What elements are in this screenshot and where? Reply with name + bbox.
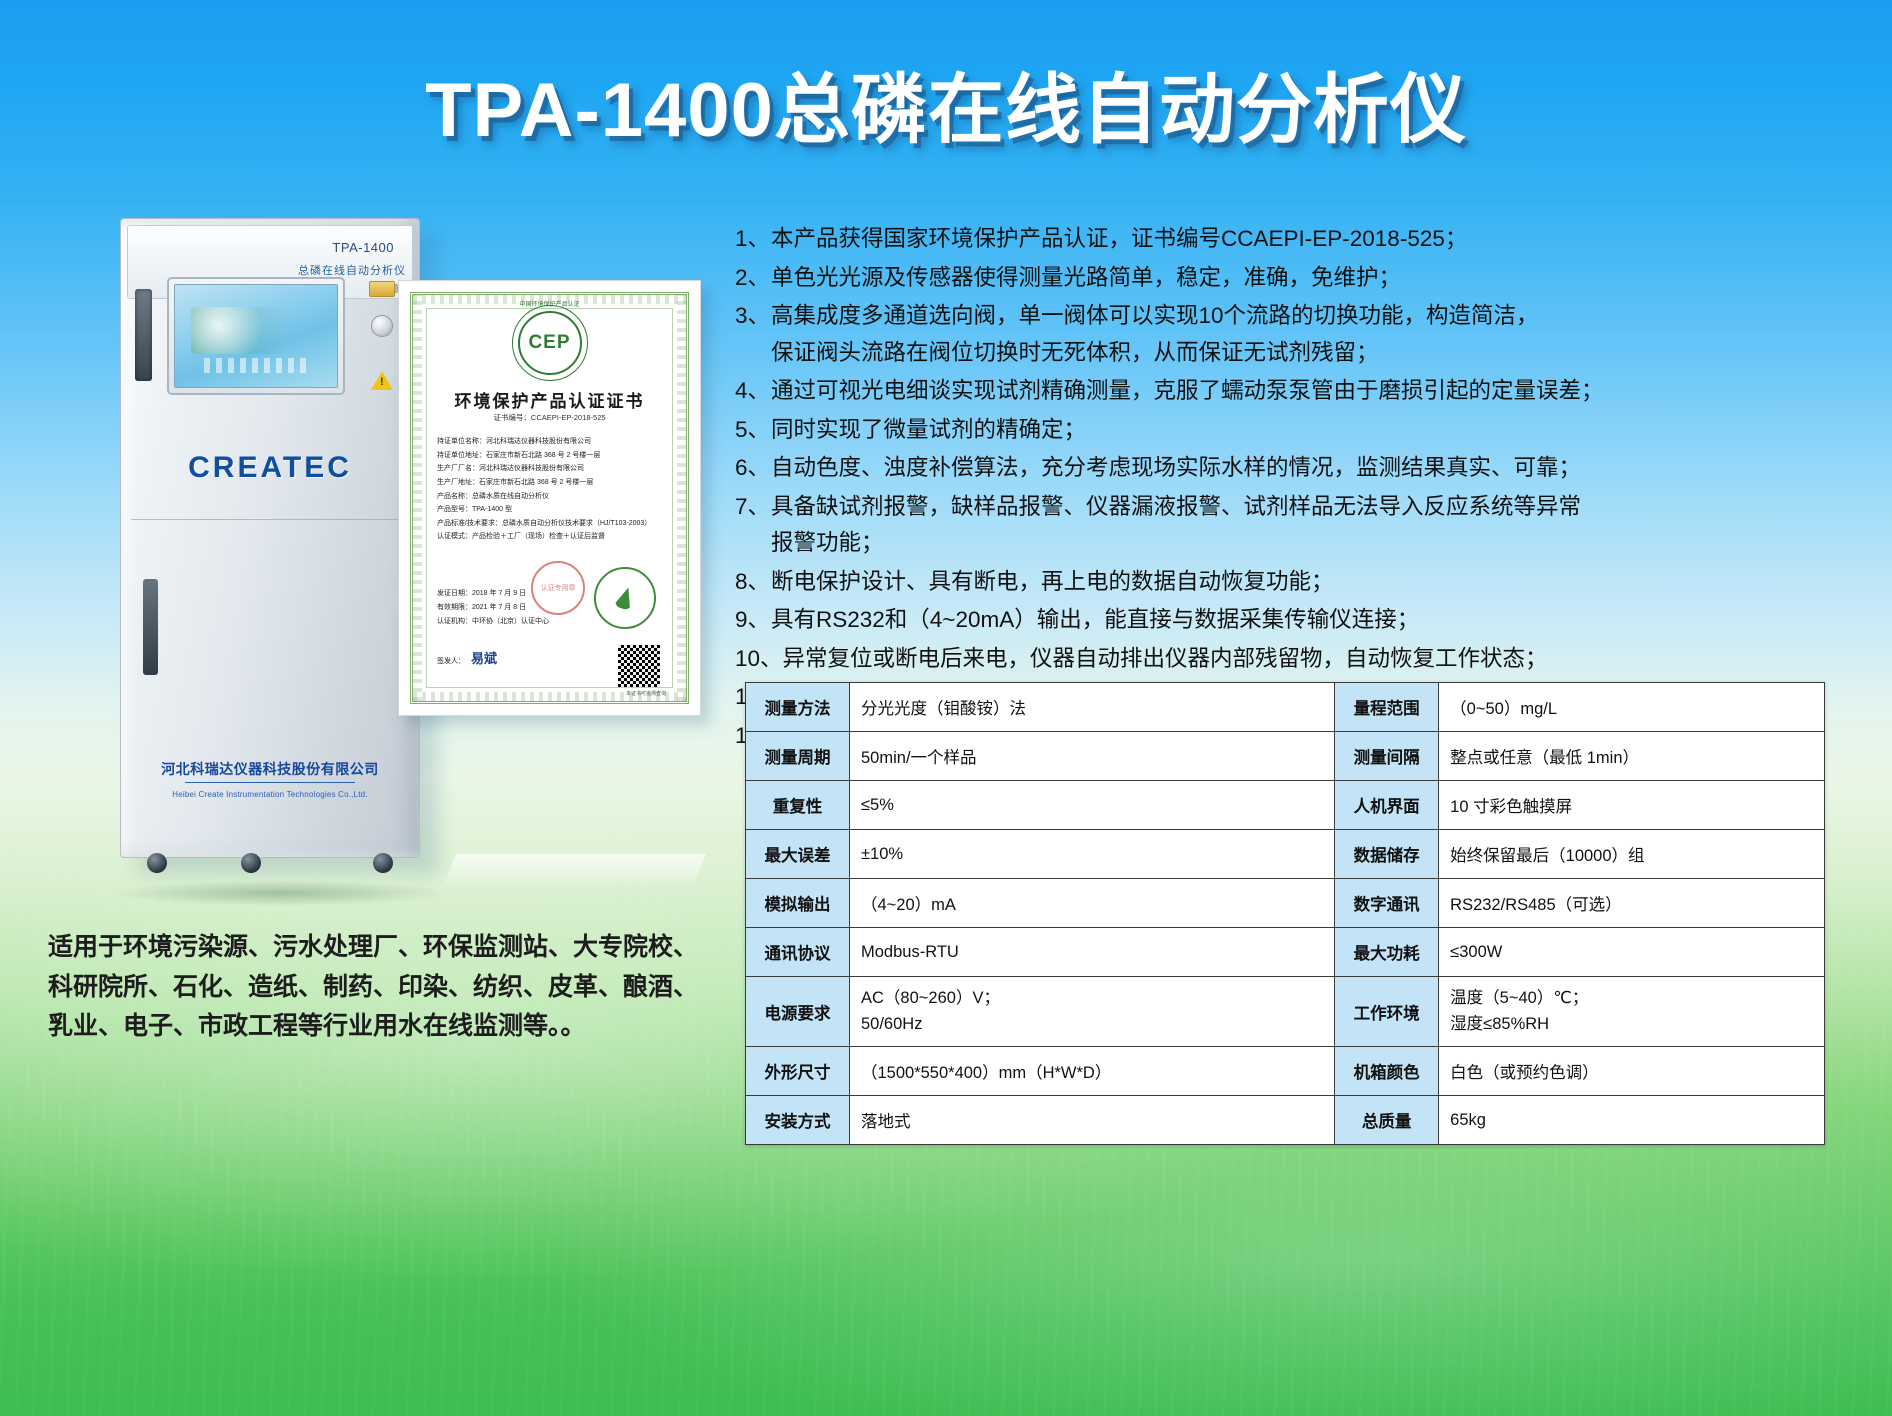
feature-text: 自动色度、浊度补偿算法，充分考虑现场实际水样的情况，监测结果真实、可靠； bbox=[771, 457, 1875, 480]
feature-text: 单色光光源及传感器使得测量光路简单，稳定，准确，免维护； bbox=[771, 267, 1875, 290]
spec-key: 工作环境 bbox=[1335, 977, 1439, 1047]
company-rule bbox=[185, 782, 355, 783]
company-name-cn: 河北科瑞达仪器科技股份有限公司 bbox=[121, 759, 419, 779]
spec-value: 白色（或预约色调） bbox=[1439, 1047, 1825, 1096]
certificate-signer-name: 易斌 bbox=[471, 651, 497, 666]
spec-value: Modbus-RTU bbox=[850, 928, 1335, 977]
certificate-signer: 签发人：易斌 bbox=[437, 648, 497, 667]
side-vent-strip bbox=[135, 289, 152, 381]
feature-number: 1、 bbox=[735, 228, 771, 251]
spec-value: ≤300W bbox=[1439, 928, 1825, 977]
spec-key: 总质量 bbox=[1335, 1096, 1439, 1145]
feature-item: 9、 具有RS232和（4~20mA）输出，能直接与数据采集传输仪连接； bbox=[735, 609, 1875, 632]
feature-text: 具有RS232和（4~20mA）输出，能直接与数据采集传输仪连接； bbox=[771, 609, 1875, 632]
application-paragraph: 适用于环境污染源、污水处理厂、环保监测站、大专院校、科研院所、石化、造纸、制药、… bbox=[48, 928, 708, 1047]
spec-value: RS232/RS485（可选） bbox=[1439, 879, 1825, 928]
spec-value: 落地式 bbox=[850, 1096, 1335, 1145]
spec-value: 分光光度（钼酸铵）法 bbox=[850, 683, 1335, 732]
certificate-number: 证书编号：CCAEPI-EP-2018-525 bbox=[413, 412, 686, 423]
spec-key: 测量周期 bbox=[746, 732, 850, 781]
table-row: 通讯协议 Modbus-RTU 最大功耗 ≤300W bbox=[746, 928, 1825, 977]
cabinet-subtitle-label: 总磷在线自动分析仪 bbox=[298, 262, 406, 278]
feature-item: 2、 单色光光源及传感器使得测量光路简单，稳定，准确，免维护； bbox=[735, 267, 1875, 290]
table-row: 电源要求 AC（80~260）V；50/60Hz 工作环境 温度（5~40）℃；… bbox=[746, 977, 1825, 1047]
spec-value: 温度（5~40）℃；湿度≤85%RH bbox=[1439, 977, 1825, 1047]
feature-number: 9、 bbox=[735, 609, 771, 632]
spec-value: ≤5% bbox=[850, 781, 1335, 830]
page-title: TPA-1400总磷在线自动分析仪 bbox=[0, 48, 1892, 158]
feature-number: 8、 bbox=[735, 571, 771, 594]
spec-key: 通讯协议 bbox=[746, 928, 850, 977]
spec-key: 最大功耗 bbox=[1335, 928, 1439, 977]
spec-value: 始终保留最后（10000）组 bbox=[1439, 830, 1825, 879]
cabinet-brand-logo: CREATEC bbox=[121, 451, 419, 485]
caster-wheel bbox=[241, 853, 261, 873]
table-row: 模拟输出 （4~20）mA 数字通讯 RS232/RS485（可选） bbox=[746, 879, 1825, 928]
control-knob bbox=[371, 315, 393, 337]
warning-triangle-icon bbox=[371, 371, 393, 390]
cabinet-model-label: TPA-1400 bbox=[332, 240, 394, 255]
spec-key: 机箱颜色 bbox=[1335, 1047, 1439, 1096]
feature-item: 8、 断电保护设计、具有断电，再上电的数据自动恢复功能； bbox=[735, 571, 1875, 594]
spec-key: 数据储存 bbox=[1335, 830, 1439, 879]
feature-number: 3、 bbox=[735, 305, 771, 328]
analyzer-cabinet: TPA-1400 总磷在线自动分析仪 CREATEC 河北科瑞达仪器科技股份有限… bbox=[120, 218, 420, 858]
certificate-line: 生产厂厂名：河北科瑞达仪器科技股份有限公司 bbox=[437, 462, 666, 476]
qr-caption: 本证书可追溯查询 bbox=[626, 690, 666, 697]
feature-item: 3、 高集成度多通道选向阀，单一阀体可以实现10个流路的切换功能，构造简洁， 保… bbox=[735, 305, 1875, 364]
spec-value: 50min/一个样品 bbox=[850, 732, 1335, 781]
spec-key: 外形尺寸 bbox=[746, 1047, 850, 1096]
feature-item: 5、 同时实现了微量试剂的精确定； bbox=[735, 419, 1875, 442]
certificate-title: 环境保护产品认证证书 bbox=[413, 387, 686, 412]
company-name-en: Heibei Create Instrumentation Technologi… bbox=[121, 790, 419, 799]
spec-key: 数字通讯 bbox=[1335, 879, 1439, 928]
cabinet-door-seam bbox=[131, 519, 409, 520]
feature-text: 断电保护设计、具有断电，再上电的数据自动恢复功能； bbox=[771, 571, 1875, 594]
feature-text-line1: 高集成度多通道选向阀，单一阀体可以实现10个流路的切换功能，构造简洁， bbox=[771, 303, 1539, 328]
feature-item: 7、 具备缺试剂报警，缺样品报警、仪器漏液报警、试剂样品无法导入反应系统等异常 … bbox=[735, 496, 1875, 555]
spec-key: 重复性 bbox=[746, 781, 850, 830]
feature-number: 5、 bbox=[735, 419, 771, 442]
feature-text-line1: 具备缺试剂报警，缺样品报警、仪器漏液报警、试剂样品无法导入反应系统等异常 bbox=[771, 494, 1581, 519]
feature-item: 1、 本产品获得国家环境保护产品认证，证书编号CCAEPI-EP-2018-52… bbox=[735, 228, 1875, 251]
spec-value: ±10% bbox=[850, 830, 1335, 879]
certificate-line: 生产厂地址：石家庄市新石北路 368 号 2 号楼一层 bbox=[437, 476, 666, 490]
feature-number: 7、 bbox=[735, 496, 771, 519]
certificate-details: 持证单位名称：河北科瑞达仪器科技股份有限公司 持证单位地址：石家庄市新石北路 3… bbox=[437, 435, 666, 544]
spec-key: 测量间隔 bbox=[1335, 732, 1439, 781]
power-button bbox=[369, 281, 395, 297]
table-row: 重复性 ≤5% 人机界面 10 寸彩色触摸屏 bbox=[746, 781, 1825, 830]
spec-value: （1500*550*400）mm（H*W*D） bbox=[850, 1047, 1335, 1096]
certificate-line: 持证单位地址：石家庄市新石北路 368 号 2 号楼一层 bbox=[437, 449, 666, 463]
feature-number: 2、 bbox=[735, 267, 771, 290]
certificate-line: 产品型号：TPA-1400 型 bbox=[437, 503, 666, 517]
spec-value: （4~20）mA bbox=[850, 879, 1335, 928]
table-row: 测量周期 50min/一个样品 测量间隔 整点或任意（最低 1min） bbox=[746, 732, 1825, 781]
cep-logo-text: CEP bbox=[528, 332, 570, 354]
spec-key: 安装方式 bbox=[746, 1096, 850, 1145]
table-row: 测量方法 分光光度（钼酸铵）法 量程范围 （0~50）mg/L bbox=[746, 683, 1825, 732]
certificate-card: 中国环境保护产品认证 CEP 环境保护产品认证证书 证书编号：CCAEPI-EP… bbox=[398, 280, 701, 716]
certificate-line: 认证模式：产品检验＋工厂（现场）检查＋认证后监督 bbox=[437, 530, 666, 544]
qr-code-icon bbox=[618, 645, 660, 687]
certificate-ornamental-border: 中国环境保护产品认证 CEP 环境保护产品认证证书 证书编号：CCAEPI-EP… bbox=[410, 292, 689, 704]
feature-text-line2: 保证阀头流路在阀位切换时无死体积，从而保证无试剂残留； bbox=[771, 342, 1875, 365]
caster-wheel bbox=[147, 853, 167, 873]
feature-text: 异常复位或断电后来电，仪器自动排出仪器内部残留物，自动恢复工作状态； bbox=[783, 648, 1875, 671]
spec-key: 量程范围 bbox=[1335, 683, 1439, 732]
floor-shadow bbox=[110, 880, 450, 906]
feature-number: 6、 bbox=[735, 457, 771, 480]
feature-text-line2: 报警功能； bbox=[771, 532, 1875, 555]
certificate-valid-date: 有效期限：2021 年 7 月 8 日 bbox=[437, 601, 549, 615]
feature-text: 具备缺试剂报警，缺样品报警、仪器漏液报警、试剂样品无法导入反应系统等异常 报警功… bbox=[771, 496, 1875, 555]
cabinet-door-handle bbox=[143, 579, 158, 675]
instrument-photo: TPA-1400 总磷在线自动分析仪 CREATEC 河北科瑞达仪器科技股份有限… bbox=[120, 218, 430, 878]
touchscreen-bezel bbox=[167, 277, 345, 395]
paper-edge bbox=[444, 854, 706, 884]
certificate-signer-label: 签发人： bbox=[437, 658, 465, 665]
spec-key: 测量方法 bbox=[746, 683, 850, 732]
feature-text: 本产品获得国家环境保护产品认证，证书编号CCAEPI-EP-2018-525； bbox=[771, 228, 1875, 251]
cep-logo-caption: 中国环境保护产品认证 bbox=[413, 299, 686, 308]
touchscreen-display bbox=[174, 284, 338, 388]
spec-key: 电源要求 bbox=[746, 977, 850, 1047]
specification-table: 测量方法 分光光度（钼酸铵）法 量程范围 （0~50）mg/L 测量周期 50m… bbox=[745, 682, 1825, 1145]
spec-value: AC（80~260）V；50/60Hz bbox=[850, 977, 1335, 1047]
feature-item: 6、 自动色度、浊度补偿算法，充分考虑现场实际水样的情况，监测结果真实、可靠； bbox=[735, 457, 1875, 480]
spec-key: 最大误差 bbox=[746, 830, 850, 879]
feature-number: 4、 bbox=[735, 380, 771, 403]
certificate-line: 持证单位名称：河北科瑞达仪器科技股份有限公司 bbox=[437, 435, 666, 449]
feature-text: 通过可视光电细谈实现试剂精确测量，克服了蠕动泵泵管由于磨损引起的定量误差； bbox=[771, 380, 1875, 403]
feature-item: 4、 通过可视光电细谈实现试剂精确测量，克服了蠕动泵泵管由于磨损引起的定量误差； bbox=[735, 380, 1875, 403]
spec-value: （0~50）mg/L bbox=[1439, 683, 1825, 732]
spec-key: 模拟输出 bbox=[746, 879, 850, 928]
feature-text: 高集成度多通道选向阀，单一阀体可以实现10个流路的切换功能，构造简洁， 保证阀头… bbox=[771, 305, 1875, 364]
feature-item: 10、 异常复位或断电后来电，仪器自动排出仪器内部残留物，自动恢复工作状态； bbox=[735, 648, 1875, 671]
certificate-line: 产品标准/技术要求：总磷水质自动分析仪技术要求（HJ/T103-2003） bbox=[437, 517, 666, 531]
certificate-photo: 中国环境保护产品认证 CEP 环境保护产品认证证书 证书编号：CCAEPI-EP… bbox=[398, 280, 710, 725]
environment-seal-icon bbox=[594, 567, 656, 629]
spec-value: 整点或任意（最低 1min） bbox=[1439, 732, 1825, 781]
certificate-authority: 认证机构：中环协（北京）认证中心 bbox=[437, 615, 549, 629]
spec-value: 10 寸彩色触摸屏 bbox=[1439, 781, 1825, 830]
table-row: 外形尺寸 （1500*550*400）mm（H*W*D） 机箱颜色 白色（或预约… bbox=[746, 1047, 1825, 1096]
leaf-icon bbox=[613, 585, 637, 611]
feature-text: 同时实现了微量试剂的精确定； bbox=[771, 419, 1875, 442]
certificate-line: 产品名称：总磷水质在线自动分析仪 bbox=[437, 490, 666, 504]
caster-wheel bbox=[373, 853, 393, 873]
table-row: 安装方式 落地式 总质量 65kg bbox=[746, 1096, 1825, 1145]
spec-key: 人机界面 bbox=[1335, 781, 1439, 830]
table-row: 最大误差 ±10% 数据储存 始终保留最后（10000）组 bbox=[746, 830, 1825, 879]
feature-number: 10、 bbox=[735, 648, 783, 671]
cep-logo-icon: CEP bbox=[518, 311, 582, 375]
certificate-red-seal-icon: 认证专用章 bbox=[531, 561, 585, 615]
spec-value: 65kg bbox=[1439, 1096, 1825, 1145]
